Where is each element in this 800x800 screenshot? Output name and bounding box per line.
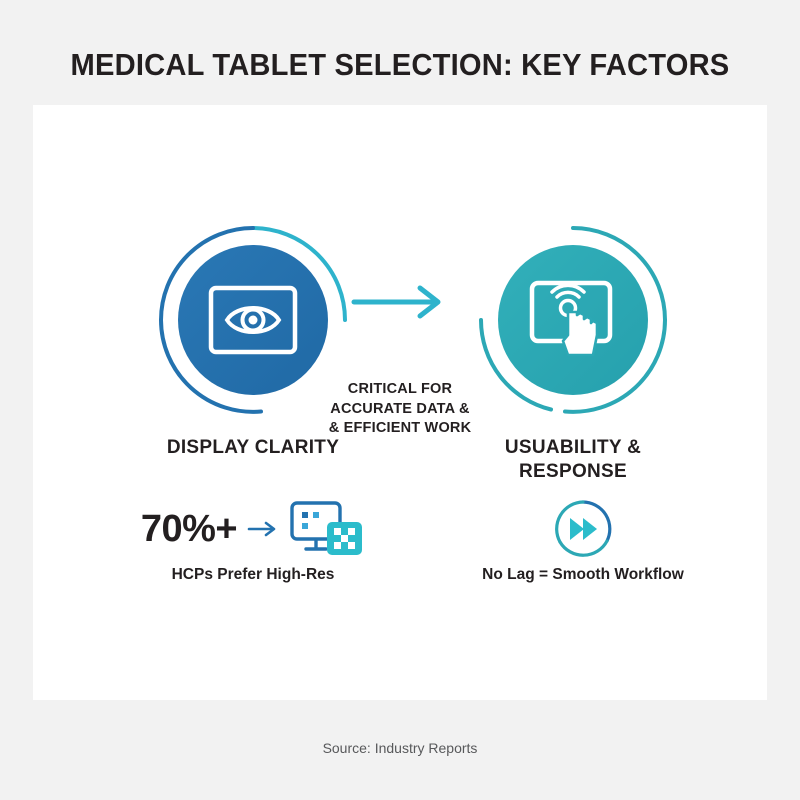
- stat-high-res-figure: 70%+: [141, 510, 237, 548]
- pillar-usability-response: USUABILITY & RESPONSE: [458, 220, 688, 484]
- footer-source: Source: Industry Reports: [0, 740, 800, 756]
- stat-no-lag: No Lag = Smooth Workflow: [433, 500, 733, 584]
- fast-forward-icon: [553, 499, 613, 559]
- eye-screen-icon: [207, 284, 299, 356]
- display-clarity-circle: [178, 245, 328, 395]
- content-card: DISPLAY CLARITY CRITICAL FOR ACCURATE DA…: [33, 105, 767, 700]
- stat-no-lag-caption: No Lag = Smooth Workflow: [433, 566, 733, 584]
- stat-high-res-row: 70%+: [103, 500, 403, 558]
- arrow-right-icon: [350, 285, 450, 319]
- usability-response-badge: [473, 220, 673, 420]
- pillar-display-clarity-label: DISPLAY CLARITY: [138, 436, 368, 460]
- stat-high-res-caption: HCPs Prefer High-Res: [103, 566, 403, 584]
- touch-screen-icon: [527, 279, 619, 361]
- usability-response-circle: [498, 245, 648, 395]
- connector-group: CRITICAL FOR ACCURATE DATA & & EFFICIENT…: [320, 285, 480, 439]
- connector-caption: CRITICAL FOR ACCURATE DATA & & EFFICIENT…: [320, 380, 480, 439]
- pillar-usability-response-label: USUABILITY & RESPONSE: [458, 436, 688, 484]
- monitor-pixels-icon: [289, 500, 365, 558]
- infographic-root: MEDICAL TABLET SELECTION: KEY FACTORS: [0, 0, 800, 800]
- stat-no-lag-row: [433, 500, 733, 558]
- stat-high-res: 70%+: [103, 500, 403, 584]
- page-title: MEDICAL TABLET SELECTION: KEY FACTORS: [24, 47, 776, 83]
- arrow-right-small-icon: [247, 519, 279, 539]
